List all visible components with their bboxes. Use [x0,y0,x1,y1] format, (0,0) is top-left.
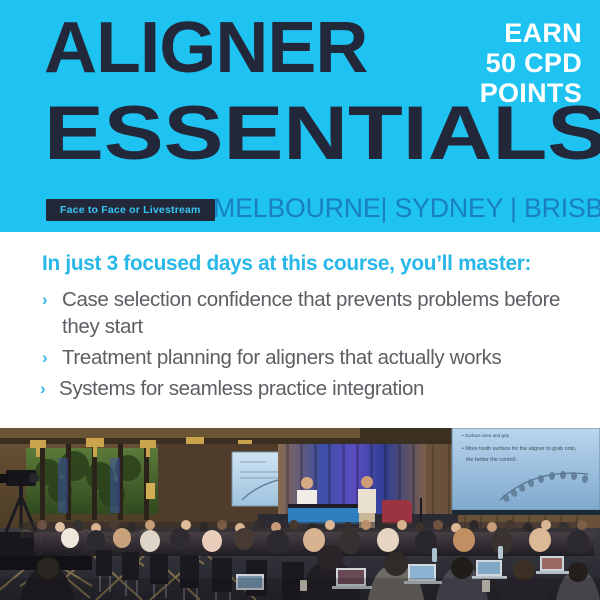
conference-photo-illustration: • Surface area and grip • More tooth sur… [0,428,600,600]
list-item-label: Systems for seamless practice integratio… [59,377,424,400]
audience-mid-rows [34,528,594,556]
poster-header: ALIGNER ESSENTIALS EARN 50 CPD POINTS Fa… [0,0,600,232]
section-heading: In just 3 focused days at this course, y… [42,252,531,276]
poster: ALIGNER ESSENTIALS EARN 50 CPD POINTS Fa… [0,0,600,600]
format-badge: Face to Face or Livestream [46,199,215,221]
cpd-line-3: POINTS [432,78,582,108]
course-outcomes-section: In just 3 focused days at this course, y… [0,232,600,428]
list-item-label: Treatment planning for aligners that act… [62,346,501,369]
list-item-label: Case selection confidence that prevents … [62,288,560,338]
cities-list: MELBOURNE| SYDNEY | BRISBANE [213,193,600,223]
page-title-line1: ALIGNER [44,12,367,84]
chevron-right-icon: › [42,286,47,313]
outcomes-list: › Case selection confidence that prevent… [38,286,583,406]
list-item: › Treatment planning for aligners that a… [38,344,583,371]
slide-text-line3: the better the control. [466,457,517,463]
chevron-right-icon: › [42,344,47,371]
chevron-right-icon: › [40,375,45,402]
slide-text-line2: • More tooth surface for the aligner to … [462,446,577,452]
conference-photo: • Surface area and grip • More tooth sur… [0,428,600,600]
cpd-line-2: 50 CPD [432,48,582,78]
list-item: › Systems for seamless practice integrat… [38,375,583,402]
slide-text-line1: • Surface area and grip [462,433,510,438]
cpd-points-callout: EARN 50 CPD POINTS [432,18,582,108]
cpd-line-1: EARN [432,18,582,48]
list-item: › Case selection confidence that prevent… [38,286,583,340]
